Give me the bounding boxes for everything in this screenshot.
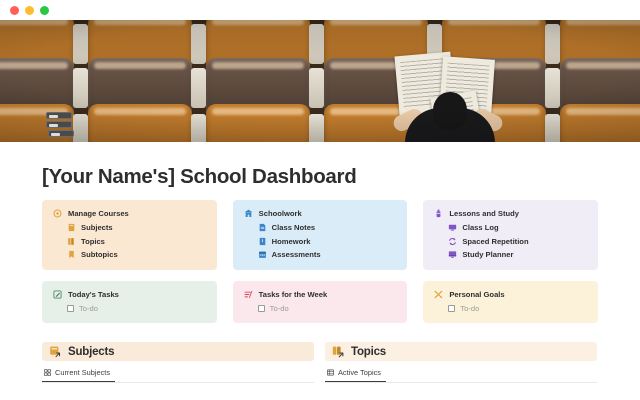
database-title: Subjects: [68, 346, 114, 358]
card-todays-tasks[interactable]: Today's Tasks To-do: [42, 281, 217, 323]
cover-vignette: [0, 20, 640, 142]
item-label: Study Planner: [462, 250, 513, 259]
database-topics: Topics Active Topics: [325, 342, 597, 383]
database-header[interactable]: Topics: [325, 342, 597, 361]
item-label: Class Log: [462, 223, 498, 232]
orange-book-icon: [67, 223, 76, 232]
item-label: Subtopics: [81, 250, 118, 259]
card-manage-courses[interactable]: Manage Courses Subjects Topics: [42, 200, 217, 270]
card-personal-goals[interactable]: Personal Goals To-do: [423, 281, 598, 323]
red-checklist-icon: [244, 290, 253, 299]
item-label: Spaced Repetition: [462, 237, 528, 246]
table-view-icon: [327, 369, 334, 376]
orange-target-icon: [434, 290, 443, 299]
card-item-assessments[interactable]: Assessments: [258, 250, 397, 259]
item-label: To-do: [79, 304, 98, 313]
window-titlebar: [0, 0, 640, 20]
orange-books-icon: [67, 237, 76, 246]
card-row-primary: Manage Courses Subjects Topics: [42, 200, 598, 270]
purple-desktop-icon: [448, 250, 457, 259]
card-lessons-and-study[interactable]: Lessons and Study Class Log Spaced Repet…: [423, 200, 598, 270]
item-label: Class Notes: [272, 223, 315, 232]
blue-note-icon: [258, 223, 267, 232]
item-label: Subjects: [81, 223, 113, 232]
card-schoolwork[interactable]: Schoolwork Class Notes Homework: [233, 200, 408, 270]
checkbox-icon[interactable]: [448, 305, 455, 312]
item-label: Assessments: [272, 250, 321, 259]
card-title: Manage Courses: [68, 209, 129, 218]
card-row-secondary: Today's Tasks To-do Tasks for the Week: [42, 281, 598, 323]
tab-active-topics[interactable]: Active Topics: [325, 368, 386, 382]
card-item-todo[interactable]: To-do: [448, 304, 587, 313]
card-item-subtopics[interactable]: Subtopics: [67, 250, 206, 259]
page-title: [Your Name's] School Dashboard: [42, 165, 356, 189]
card-item-todo[interactable]: To-do: [67, 304, 206, 313]
orange-books-linked-icon: [332, 345, 345, 358]
card-item-todo[interactable]: To-do: [258, 304, 397, 313]
purple-monitor-icon: [448, 223, 457, 232]
card-header: Manage Courses: [53, 209, 206, 218]
item-label: Homework: [272, 237, 311, 246]
card-header: Lessons and Study: [434, 209, 587, 218]
blue-book-icon: [258, 237, 267, 246]
purple-bottle-icon: [434, 209, 443, 218]
card-header: Today's Tasks: [53, 290, 206, 299]
lecture-hall-photo: [0, 20, 640, 142]
card-title: Today's Tasks: [68, 290, 119, 299]
gear-icon: [53, 209, 62, 218]
gallery-view-icon: [44, 369, 51, 376]
item-label: To-do: [270, 304, 289, 313]
maximize-button[interactable]: [40, 6, 49, 15]
checkbox-icon[interactable]: [67, 305, 74, 312]
card-header: Personal Goals: [434, 290, 587, 299]
app-window: [Your Name's] School Dashboard Manage Co…: [0, 0, 640, 400]
server-stack-icon[interactable]: [46, 112, 76, 142]
card-tasks-for-the-week[interactable]: Tasks for the Week To-do: [233, 281, 408, 323]
card-item-spaced-repetition[interactable]: Spaced Repetition: [448, 237, 587, 246]
card-header: Tasks for the Week: [244, 290, 397, 299]
tab-label: Current Subjects: [55, 368, 110, 377]
checkbox-icon[interactable]: [258, 305, 265, 312]
card-header: Schoolwork: [244, 209, 397, 218]
item-label: Topics: [81, 237, 105, 246]
card-item-study-planner[interactable]: Study Planner: [448, 250, 587, 259]
tab-current-subjects[interactable]: Current Subjects: [42, 368, 115, 382]
database-subjects: Subjects Current Subjects: [42, 342, 314, 383]
card-title: Personal Goals: [449, 290, 504, 299]
database-view-tabs: Active Topics: [325, 368, 597, 383]
purple-refresh-icon: [448, 237, 457, 246]
card-title: Schoolwork: [259, 209, 302, 218]
close-button[interactable]: [10, 6, 19, 15]
item-label: To-do: [460, 304, 479, 313]
card-item-subjects[interactable]: Subjects: [67, 223, 206, 232]
database-view-tabs: Current Subjects: [42, 368, 314, 383]
page-content: [Your Name's] School Dashboard Manage Co…: [0, 142, 640, 400]
tab-label: Active Topics: [338, 368, 381, 377]
orange-bookmark-icon: [67, 250, 76, 259]
card-item-topics[interactable]: Topics: [67, 237, 206, 246]
blue-calendar-icon: [258, 250, 267, 259]
database-header[interactable]: Subjects: [42, 342, 314, 361]
card-item-class-log[interactable]: Class Log: [448, 223, 587, 232]
green-pencil-square-icon: [53, 290, 62, 299]
school-icon: [244, 209, 253, 218]
database-title: Topics: [351, 346, 386, 358]
cover-image[interactable]: [0, 20, 640, 142]
card-title: Tasks for the Week: [259, 290, 328, 299]
card-item-homework[interactable]: Homework: [258, 237, 397, 246]
card-item-class-notes[interactable]: Class Notes: [258, 223, 397, 232]
card-title: Lessons and Study: [449, 209, 519, 218]
orange-linked-database-icon: [49, 345, 62, 358]
minimize-button[interactable]: [25, 6, 34, 15]
